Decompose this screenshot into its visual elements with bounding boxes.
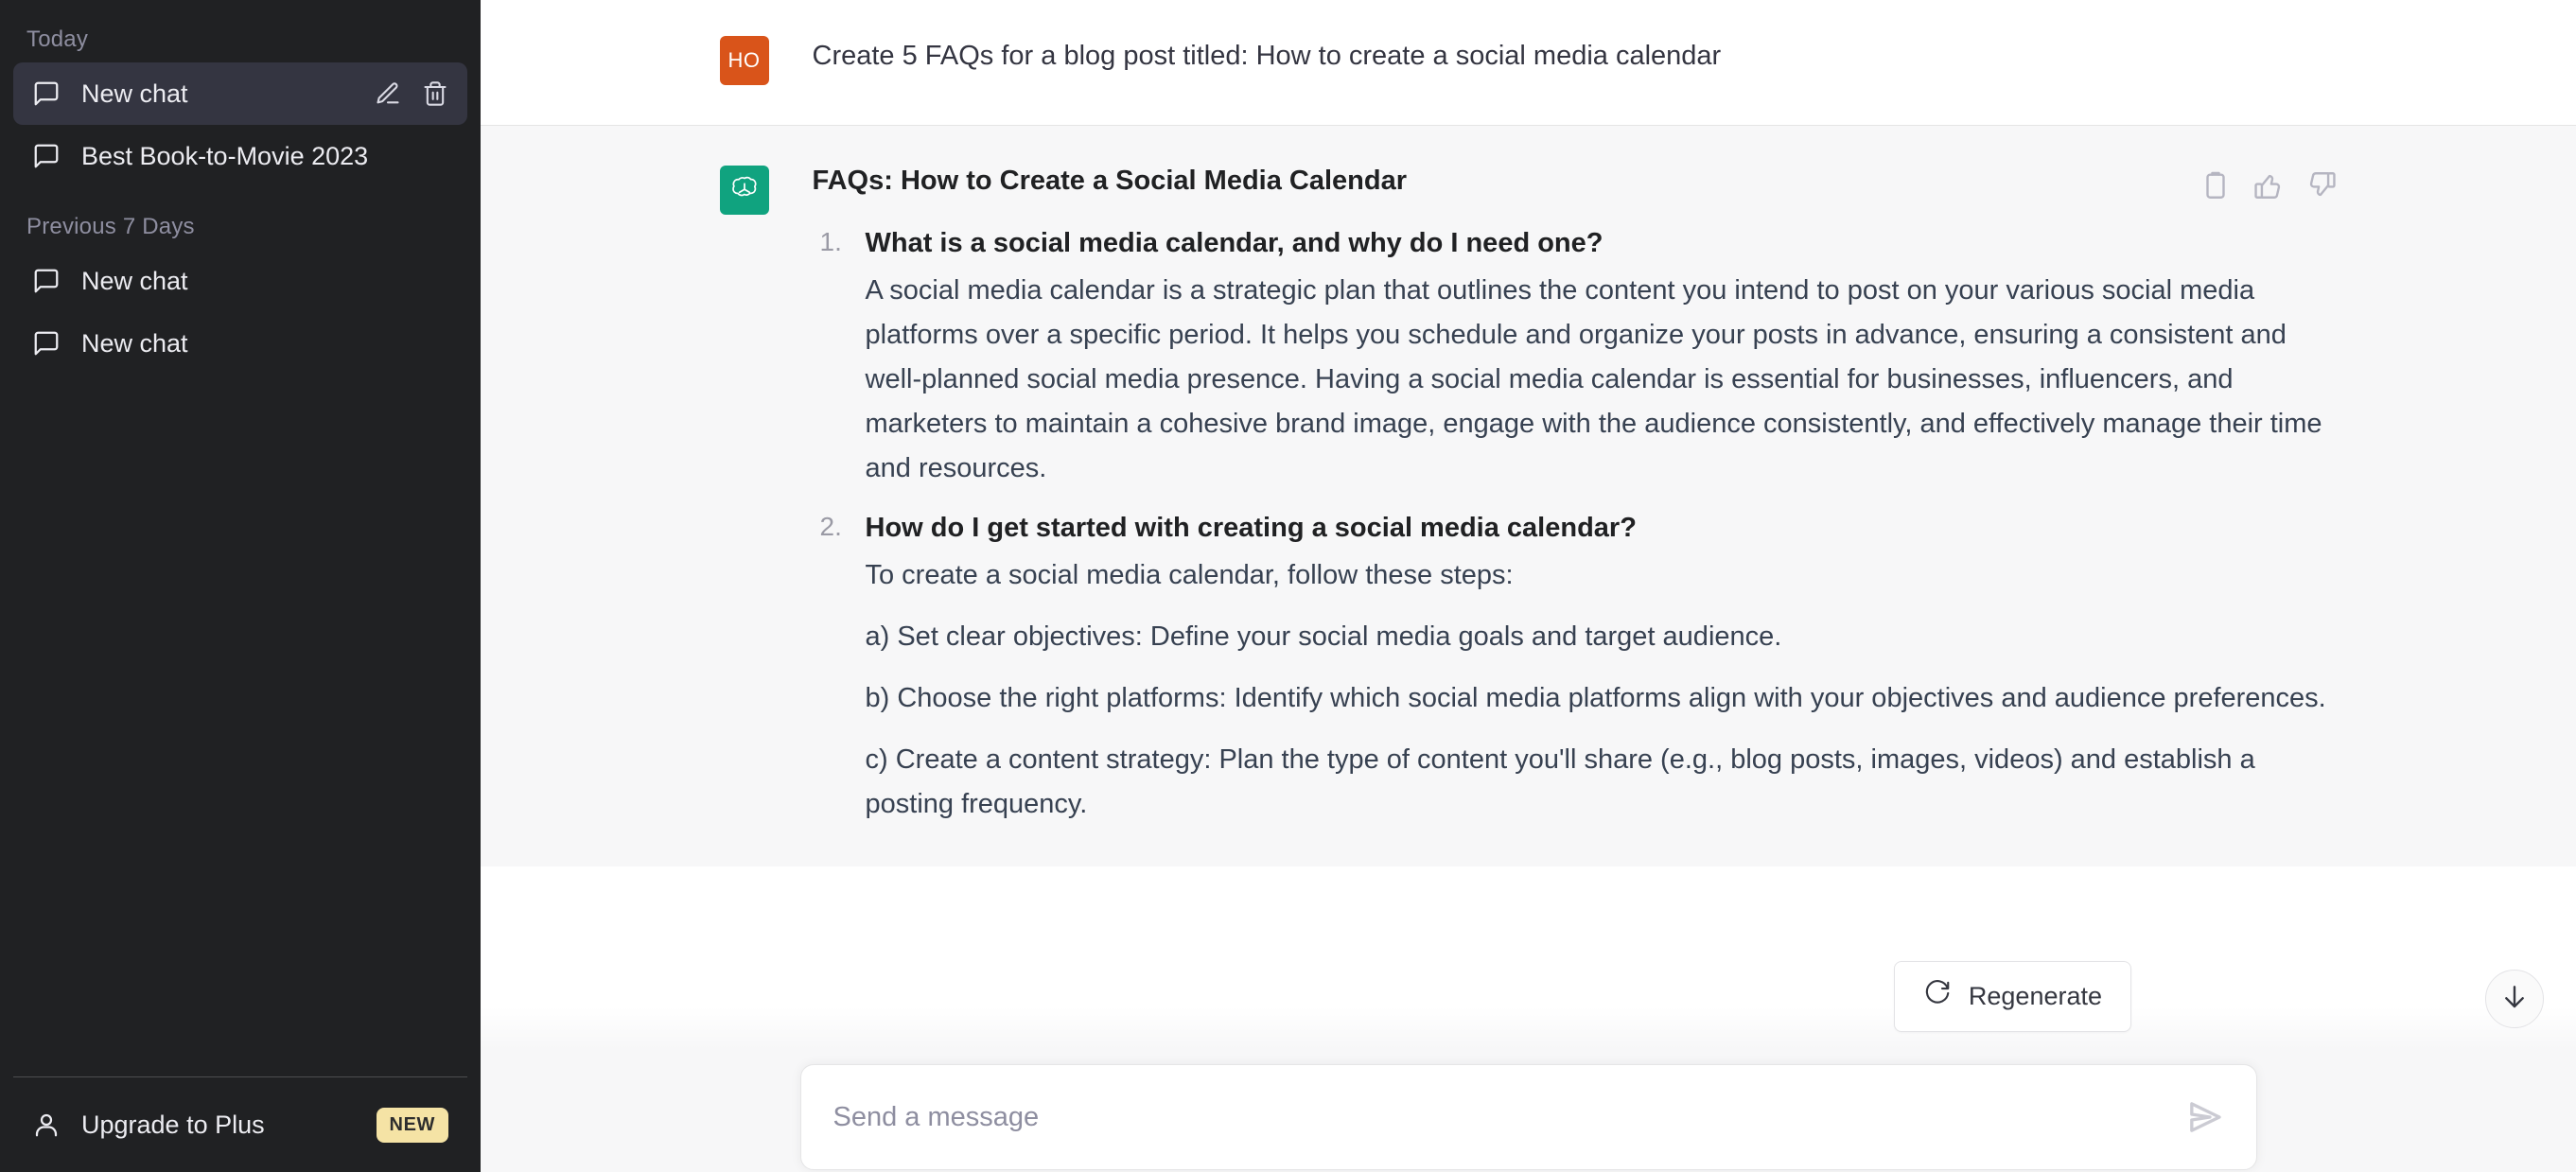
sidebar-group-label-today: Today [13,0,467,62]
chat-bubble-icon [32,267,61,295]
faq-list: What is a social media calendar, and why… [813,223,2338,827]
message-action-buttons [2199,169,2338,201]
faq-answer: A social media calendar is a strategic p… [866,269,2338,491]
sidebar-item-new-chat-today[interactable]: New chat [13,62,467,125]
conversation-thread: HO Create 5 FAQs for a blog post titled:… [481,0,2576,1172]
chat-bubble-icon [32,142,61,170]
chat-bubble-icon [32,79,61,108]
sidebar-item-actions [375,80,448,107]
sidebar-item-label: New chat [81,267,448,296]
main-panel: HO Create 5 FAQs for a blog post titled:… [481,0,2576,1172]
avatar-assistant [720,166,769,215]
composer-area [481,1057,2576,1172]
thumbs-up-icon[interactable] [2252,169,2285,201]
chatgpt-app: Today New chat [0,0,2576,1172]
regenerate-label: Regenerate [1969,982,2102,1011]
sidebar-item-label: New chat [81,329,448,359]
send-arrow-icon[interactable] [2186,1098,2224,1136]
copy-icon[interactable] [2199,169,2232,201]
faq-step-a: a) Set clear objectives: Define your soc… [866,615,2338,659]
regenerate-button[interactable]: Regenerate [1894,961,2131,1032]
assistant-heading: FAQs: How to Create a Social Media Calen… [813,166,2338,197]
person-icon [32,1111,61,1139]
chat-bubble-icon [32,329,61,358]
sidebar-item-best-book-to-movie[interactable]: Best Book-to-Movie 2023 [13,125,467,187]
faq-step-b: b) Choose the right platforms: Identify … [866,676,2338,721]
sidebar: Today New chat [0,0,481,1172]
new-badge: NEW [377,1108,448,1143]
upgrade-to-plus-button[interactable]: Upgrade to Plus NEW [13,1091,467,1159]
refresh-icon [1923,979,1952,1014]
arrow-down-icon [2499,982,2530,1017]
composer-box[interactable] [800,1064,2257,1170]
faq-answer: To create a social media calendar, follo… [866,553,2338,598]
faq-question: What is a social media calendar, and why… [866,223,2338,263]
user-message-text: Create 5 FAQs for a blog post titled: Ho… [813,36,2338,78]
sidebar-chat-list: Today New chat [0,0,481,1076]
sidebar-item-new-chat-prev-1[interactable]: New chat [13,250,467,312]
avatar-user: HO [720,36,769,85]
thumbs-down-icon[interactable] [2305,169,2338,201]
sidebar-item-new-chat-prev-2[interactable]: New chat [13,312,467,375]
faq-step-c: c) Create a content strategy: Plan the t… [866,738,2338,827]
scroll-to-bottom-button[interactable] [2485,970,2544,1028]
sidebar-footer: Upgrade to Plus NEW [0,1077,481,1172]
assistant-message-row: FAQs: How to Create a Social Media Calen… [481,125,2576,866]
faq-question: How do I get started with creating a soc… [866,508,2338,548]
trash-icon[interactable] [422,80,448,107]
user-message-row: HO Create 5 FAQs for a blog post titled:… [481,0,2576,125]
upgrade-label: Upgrade to Plus [81,1111,356,1140]
message-input[interactable] [833,1102,2186,1133]
faq-item-1: What is a social media calendar, and why… [813,223,2338,491]
sidebar-group-label-previous-7-days: Previous 7 Days [13,187,467,250]
sidebar-item-label: Best Book-to-Movie 2023 [81,142,448,171]
edit-pencil-icon[interactable] [375,80,401,107]
faq-item-2: How do I get started with creating a soc… [813,508,2338,827]
sidebar-item-label: New chat [81,79,354,109]
